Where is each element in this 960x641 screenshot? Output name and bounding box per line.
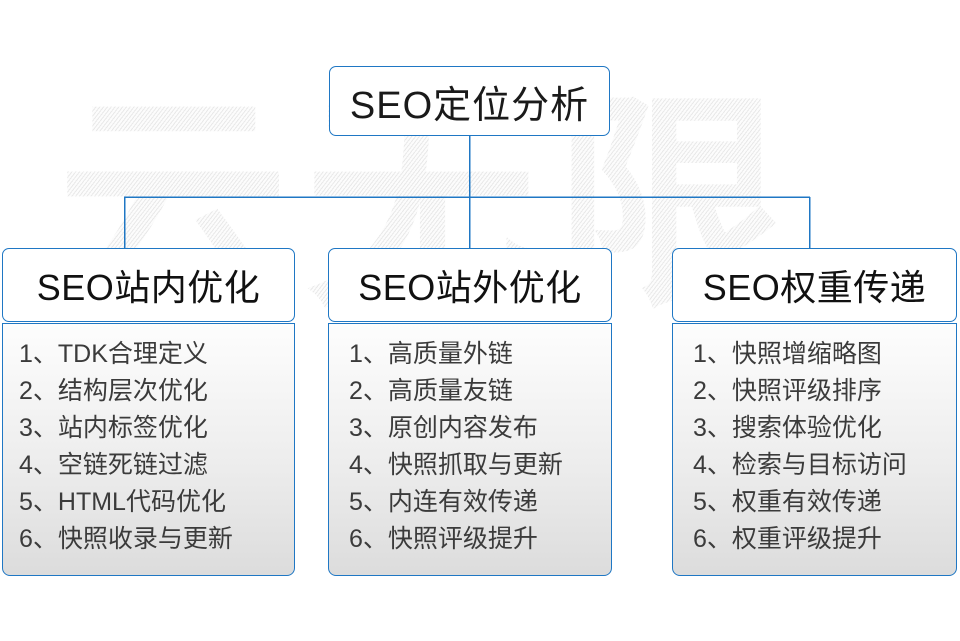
branch-header-label-2: SEO站外优化 xyxy=(358,259,582,311)
list-item: 3、搜索体验优化 xyxy=(693,410,956,447)
list-item: 2、快照评级排序 xyxy=(693,373,956,410)
list-item: 5、内连有效传递 xyxy=(349,484,611,521)
list-item: 3、站内标签优化 xyxy=(19,410,294,447)
list-item: 3、原创内容发布 xyxy=(349,410,611,447)
list-item: 4、检索与目标访问 xyxy=(693,447,956,484)
branch-header-3[interactable]: SEO权重传递 xyxy=(672,248,957,322)
branch-body-2: 1、高质量外链 2、高质量友链 3、原创内容发布 4、快照抓取与更新 5、内连有… xyxy=(328,323,612,576)
branch-column-3: SEO权重传递 1、快照增缩略图 2、快照评级排序 3、搜索体验优化 4、检索与… xyxy=(672,248,957,576)
branch-body-3: 1、快照增缩略图 2、快照评级排序 3、搜索体验优化 4、检索与目标访问 5、权… xyxy=(672,323,957,576)
branch-header-2[interactable]: SEO站外优化 xyxy=(328,248,612,322)
list-item: 4、快照抓取与更新 xyxy=(349,447,611,484)
root-node[interactable]: SEO定位分析 xyxy=(329,66,610,136)
list-item: 5、HTML代码优化 xyxy=(19,484,294,521)
branch-header-label-3: SEO权重传递 xyxy=(703,259,927,311)
branch-header-1[interactable]: SEO站内优化 xyxy=(2,248,295,322)
list-item: 4、空链死链过滤 xyxy=(19,447,294,484)
branch-column-1: SEO站内优化 1、TDK合理定义 2、结构层次优化 3、站内标签优化 4、空链… xyxy=(2,248,295,576)
list-item: 2、高质量友链 xyxy=(349,373,611,410)
list-item: 1、高质量外链 xyxy=(349,336,611,373)
branch-column-2: SEO站外优化 1、高质量外链 2、高质量友链 3、原创内容发布 4、快照抓取与… xyxy=(328,248,612,576)
branch-body-1: 1、TDK合理定义 2、结构层次优化 3、站内标签优化 4、空链死链过滤 5、H… xyxy=(2,323,295,576)
list-item: 1、快照增缩略图 xyxy=(693,336,956,373)
list-item: 1、TDK合理定义 xyxy=(19,336,294,373)
org-chart: SEO定位分析 SEO站内优化 1、TDK合理定义 2、结构层次优化 3、站内标… xyxy=(0,0,960,641)
branch-header-label-1: SEO站内优化 xyxy=(37,259,261,311)
list-item: 6、快照评级提升 xyxy=(349,521,611,558)
list-item: 5、权重有效传递 xyxy=(693,484,956,521)
list-item: 2、结构层次优化 xyxy=(19,373,294,410)
root-node-label: SEO定位分析 xyxy=(350,74,589,129)
list-item: 6、快照收录与更新 xyxy=(19,521,294,558)
list-item: 6、权重评级提升 xyxy=(693,521,956,558)
